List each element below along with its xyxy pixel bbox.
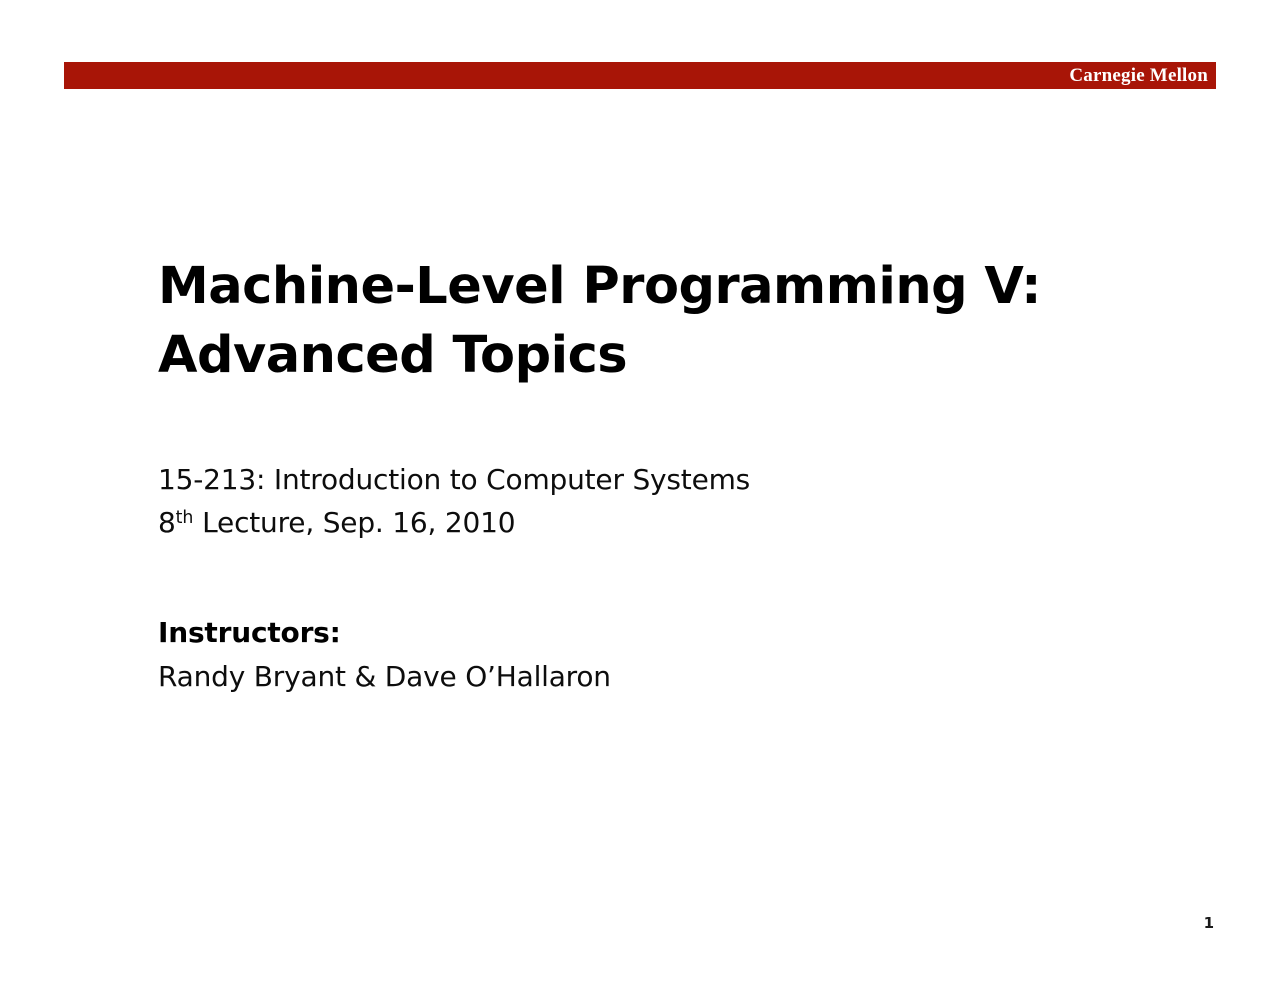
- instructors-section: Instructors: Randy Bryant & Dave O’Halla…: [158, 611, 1058, 699]
- slide-title: Machine-Level Programming V: Advanced To…: [158, 252, 1158, 390]
- slide-canvas: Carnegie Mellon Machine-Level Programmin…: [0, 0, 1280, 989]
- instructors-names: Randy Bryant & Dave O’Hallaron: [158, 655, 1058, 699]
- lecture-number: 8: [158, 506, 176, 539]
- carnegie-mellon-banner: Carnegie Mellon: [64, 62, 1216, 89]
- instructors-heading: Instructors:: [158, 611, 1058, 655]
- lecture-info: 8th Lecture, Sep. 16, 2010: [158, 499, 1058, 542]
- course-info: 15-213: Introduction to Computer Systems…: [158, 461, 1058, 542]
- course-name: 15-213: Introduction to Computer Systems: [158, 461, 1058, 499]
- carnegie-mellon-label: Carnegie Mellon: [1069, 66, 1216, 85]
- title-line-2: Advanced Topics: [158, 321, 1158, 390]
- lecture-date: Lecture, Sep. 16, 2010: [193, 506, 515, 539]
- slide-number: 1: [1204, 916, 1214, 931]
- title-line-1: Machine-Level Programming V:: [158, 252, 1158, 321]
- lecture-ordinal-suffix: th: [176, 508, 194, 528]
